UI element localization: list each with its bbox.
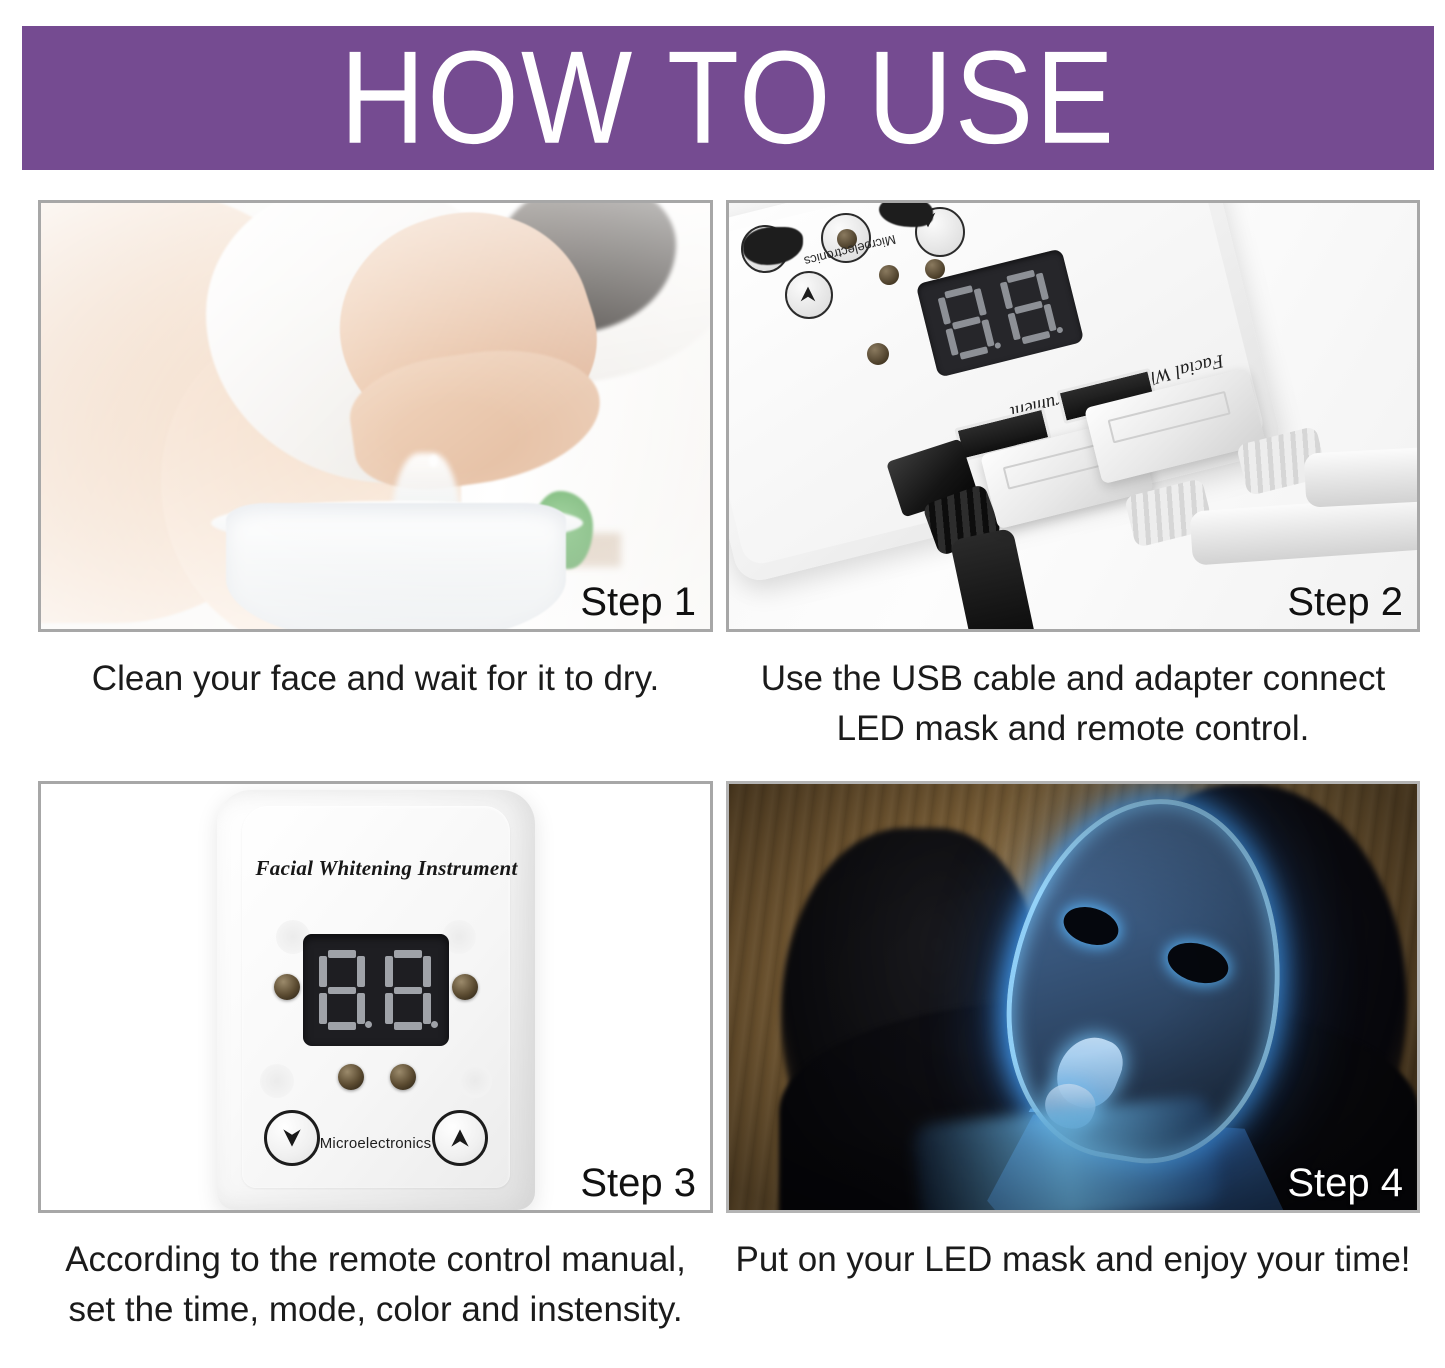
remote-digital-display (303, 934, 449, 1046)
caption-line: According to the remote control manual, (38, 1235, 713, 1285)
step-card-4: Step 4 Put on your LED mask and enjoy yo… (722, 781, 1445, 1334)
step-3-badge: Step 3 (580, 1161, 696, 1206)
steps-grid: Step 1 Clean your face and wait for it t… (0, 200, 1445, 1335)
led-mask-illustration (729, 784, 1417, 1210)
face-wash-illustration (41, 203, 710, 629)
caption-line: Clean your face and wait for it to dry. (38, 654, 713, 704)
usb-plug-slot-icon (1108, 391, 1231, 443)
remote-led-center-left (338, 1064, 364, 1090)
seven-segment-digit (936, 283, 996, 362)
header-banner: HOW TO USE (22, 26, 1434, 170)
remote-control-illustration: Facial Whitening Instrument (41, 784, 710, 1210)
black-cable (950, 528, 1037, 632)
chevron-down-icon (279, 1125, 305, 1151)
remote-button-down-inverted (785, 271, 833, 319)
step-card-3: Facial Whitening Instrument (0, 781, 722, 1334)
remote-microelectronics-label: Microelectronics (320, 1135, 432, 1152)
remote-panel: Facial Whitening Instrument (242, 806, 510, 1188)
caption-line: Use the USB cable and adapter connect (726, 654, 1420, 704)
remote-down-button[interactable] (264, 1110, 320, 1166)
vignette (729, 784, 1417, 1210)
step-2-badge: Step 2 (1287, 580, 1403, 625)
chevron-up-icon (447, 1125, 473, 1151)
usb-cable-lower (1189, 494, 1420, 565)
usb-cable-upper (1304, 444, 1420, 507)
remote-led-left (274, 974, 300, 1000)
step-4-caption: Put on your LED mask and enjoy your time… (726, 1213, 1420, 1285)
step-2-caption: Use the USB cable and adapter connect LE… (726, 632, 1420, 753)
step-2-photo: Microelectronics Facial Whitening Instru… (726, 200, 1420, 632)
usb-connection-illustration: Microelectronics Facial Whitening Instru… (729, 203, 1417, 629)
seven-segment-digit (385, 950, 431, 1030)
triangle-down-icon (797, 283, 819, 305)
step-1-caption: Clean your face and wait for it to dry. (38, 632, 713, 704)
caption-line: LED mask and remote control. (726, 704, 1420, 754)
step-4-badge: Step 4 (1287, 1161, 1403, 1206)
ghost-indicator (458, 1064, 492, 1098)
soft-haze (41, 203, 710, 629)
row-spacer (0, 753, 1445, 781)
step-3-photo: Facial Whitening Instrument (38, 781, 713, 1213)
step-row-2: Facial Whitening Instrument (0, 781, 1445, 1334)
remote-up-button[interactable] (432, 1110, 488, 1166)
seven-segment-digit (319, 950, 365, 1030)
caption-line: set the time, mode, color and instensity… (38, 1285, 713, 1335)
remote-led-right (452, 974, 478, 1000)
step-card-2: Microelectronics Facial Whitening Instru… (722, 200, 1445, 753)
remote-led-center-right (390, 1064, 416, 1090)
page-title: HOW TO USE (340, 32, 1116, 164)
ghost-indicator (260, 1064, 294, 1098)
step-3-caption: According to the remote control manual, … (38, 1213, 713, 1334)
step-card-1: Step 1 Clean your face and wait for it t… (0, 200, 722, 753)
step-1-photo: Step 1 (38, 200, 713, 632)
step-4-photo: Step 4 (726, 781, 1420, 1213)
remote-brand-label: Facial Whitening Instrument (256, 856, 496, 881)
remote-led (925, 259, 945, 279)
caption-line: Put on your LED mask and enjoy your time… (726, 1235, 1420, 1285)
step-row-1: Step 1 Clean your face and wait for it t… (0, 200, 1445, 753)
step-1-badge: Step 1 (580, 580, 696, 625)
seven-segment-digit (999, 268, 1059, 347)
remote-led (879, 265, 899, 285)
remote-led (867, 343, 889, 365)
